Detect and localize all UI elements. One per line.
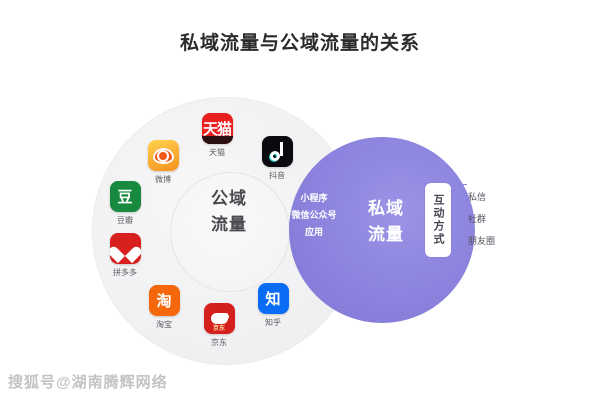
interaction-method-box: 互动方式 [424, 182, 452, 258]
app-label-taobao: 淘宝 [141, 319, 187, 330]
private-label-line2: 流量 [340, 222, 432, 248]
app-item-weibo[interactable]: 微博 [140, 140, 186, 185]
public-label-line2: 流量 [170, 212, 288, 238]
pinduoduo-icon [110, 233, 141, 264]
public-label-line1: 公域 [170, 186, 288, 212]
diagram-canvas: 私域流量与公域流量的关系 公域 流量 小程序 微信公众号 应用 私域 流量 天猫… [0, 0, 600, 400]
app-item-taobao[interactable]: 淘 淘宝 [141, 285, 187, 330]
taobao-glyph: 淘 [156, 290, 171, 311]
app-label-douban: 豆瓣 [102, 215, 148, 226]
zhihu-icon: 知 [258, 283, 289, 314]
app-item-zhihu[interactable]: 知 知乎 [250, 283, 296, 328]
interaction-item-0: 私信 [468, 186, 528, 208]
brace-icon [452, 184, 467, 256]
app-label-tmall: 天猫 [194, 147, 240, 158]
interaction-item-1: 社群 [468, 208, 528, 230]
app-label-zhihu: 知乎 [250, 317, 296, 328]
app-item-pinduoduo[interactable]: 拼多多 [102, 233, 148, 278]
public-traffic-label: 公域 流量 [170, 186, 288, 238]
jd-icon: 京东 [204, 303, 235, 334]
interaction-item-2: 朋友圈 [468, 230, 528, 252]
douban-icon: 豆 [110, 181, 141, 212]
tmall-icon: 天猫 [202, 113, 233, 144]
watermark: 搜狐号@湖南腾辉网络 [8, 371, 168, 392]
jd-glyph: 京东 [204, 323, 235, 332]
douban-glyph: 豆 [117, 186, 132, 207]
app-item-douyin[interactable]: 抖音 [254, 136, 300, 181]
app-item-tmall[interactable]: 天猫 天猫 [194, 113, 240, 158]
interaction-item-list: 私信 社群 朋友圈 [468, 186, 528, 252]
app-item-jd[interactable]: 京东 京东 [196, 303, 242, 348]
zhihu-glyph: 知 [265, 288, 280, 309]
app-item-douban[interactable]: 豆 豆瓣 [102, 181, 148, 226]
app-label-douyin: 抖音 [254, 170, 300, 181]
interaction-method-label: 互动方式 [430, 194, 446, 246]
app-label-jd: 京东 [196, 337, 242, 348]
private-label-line1: 私域 [340, 196, 432, 222]
page-title: 私域流量与公域流量的关系 [0, 28, 600, 55]
douyin-icon [262, 136, 293, 167]
private-traffic-label: 私域 流量 [340, 196, 432, 248]
app-label-pinduoduo: 拼多多 [102, 267, 148, 278]
weibo-icon [148, 140, 179, 171]
taobao-icon: 淘 [149, 285, 180, 316]
